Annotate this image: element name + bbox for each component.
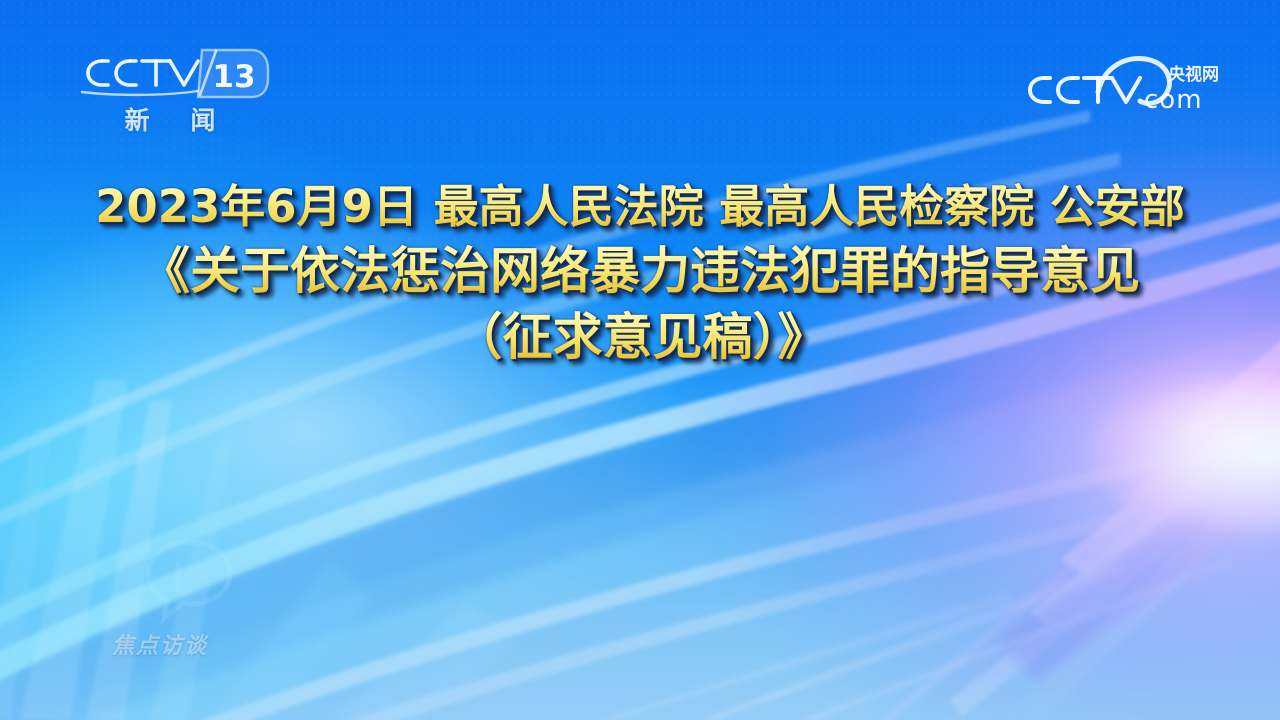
cctv-com-logo-icon: 央视网 com xyxy=(1018,52,1228,116)
cctv13-logo-icon: 13 xyxy=(74,47,270,99)
cctv-com-chinese-text: 央视网 xyxy=(1168,64,1219,85)
cctv-com-logo: 央视网 com xyxy=(1018,52,1228,116)
broadcast-screen: 焦点访谈 13 新 闻 xyxy=(0,0,1280,720)
cctv-com-domain-text: com xyxy=(1144,85,1203,115)
cctv13-news-logo: 13 新 闻 xyxy=(74,47,274,139)
channel-subtitle: 新 闻 xyxy=(74,101,266,137)
channel-number-text: 13 xyxy=(212,59,255,95)
